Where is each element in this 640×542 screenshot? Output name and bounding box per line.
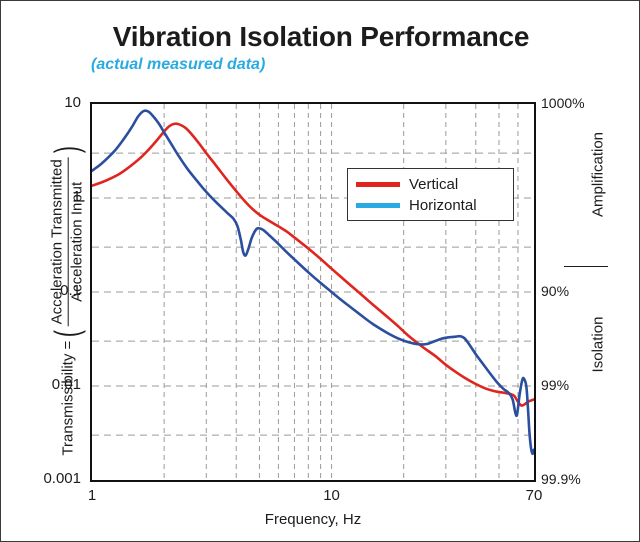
y-axis-numerator: Acceleration Transmitted [50, 157, 67, 326]
legend-label-vertical: Vertical [409, 177, 458, 192]
right-axis-title: Amplification Isolation [578, 111, 618, 421]
legend-swatch-horizontal [356, 203, 400, 208]
data-series [92, 111, 534, 454]
gridlines [92, 104, 534, 480]
y-tick-right-label-1: 90% [541, 283, 569, 299]
y-tick-right-label-2: 99% [541, 377, 569, 393]
plot-area [90, 102, 536, 482]
chart-title: Vibration Isolation Performance [1, 21, 640, 53]
legend-label-horizontal: Horizontal [409, 198, 477, 213]
y-axis-title: Transmissibility = ( Acceleration Transm… [50, 134, 87, 464]
left-paren: ( [51, 331, 85, 338]
right-paren: ) [51, 146, 85, 153]
legend: Vertical Horizontal [347, 168, 514, 221]
y-tick-right-label-0: 1000% [541, 95, 585, 111]
amplification-label: Amplification [590, 132, 607, 217]
legend-item-vertical: Vertical [356, 174, 505, 195]
chart-subtitle: (actual measured data) [91, 56, 265, 74]
x-axis-title: Frequency, Hz [90, 511, 536, 528]
y-tick-label-1: 1 [11, 188, 81, 205]
series-line-horizontal [92, 111, 534, 454]
x-tick-label-2: 70 [526, 487, 543, 504]
y-tick-label-2: 0.1 [11, 282, 81, 299]
chart-page: Vibration Isolation Performance (actual … [0, 0, 640, 542]
x-tick-label-1: 10 [323, 487, 340, 504]
y-tick-right-label-3: 99.9% [541, 471, 581, 487]
legend-item-horizontal: Horizontal [356, 195, 505, 216]
y-tick-label-0: 10 [11, 94, 81, 111]
x-tick-label-0: 1 [88, 487, 96, 504]
legend-swatch-vertical [356, 182, 400, 187]
series-line-vertical [92, 124, 534, 406]
y-tick-label-3: 0.01 [11, 376, 81, 393]
y-axis-title-prefix: Transmissibility = [60, 341, 77, 456]
amplification-isolation-divider [564, 266, 608, 267]
isolation-label: Isolation [590, 317, 607, 373]
plot-canvas [92, 104, 534, 480]
y-axis-fraction: Acceleration Transmitted Acceleration In… [50, 157, 87, 326]
y-tick-label-4: 0.001 [11, 470, 81, 487]
